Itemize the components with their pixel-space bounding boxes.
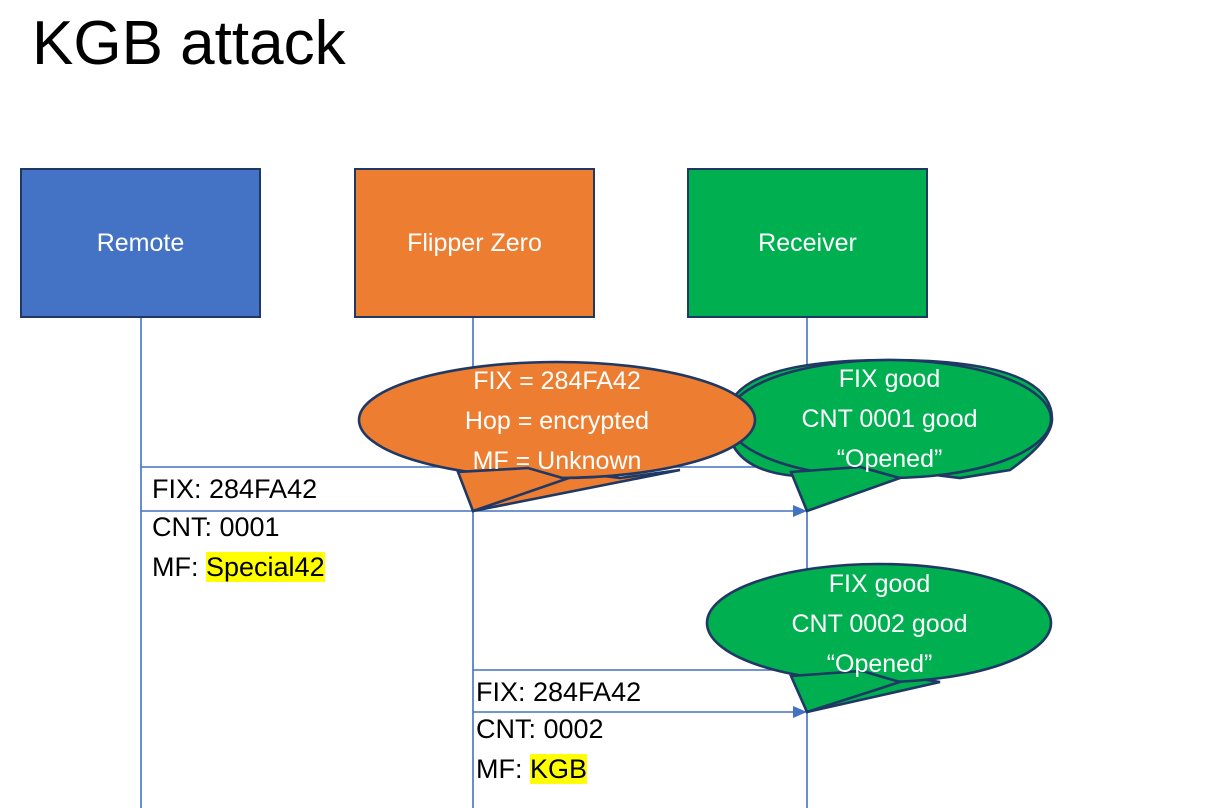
callout-flipper-line-2: Hop = encrypted bbox=[465, 401, 649, 441]
actor-box-remote[interactable]: Remote bbox=[20, 168, 261, 318]
callout-flipper-line-1: FIX = 284FA42 bbox=[473, 361, 640, 401]
page-title: KGB attack bbox=[32, 8, 346, 79]
actor-label-flipper: Flipper Zero bbox=[407, 229, 542, 258]
callout-receiver-first-line-2: CNT 0001 good bbox=[801, 399, 977, 439]
message-1-cnt-label: CNT: 0001 bbox=[152, 508, 280, 546]
actor-label-receiver: Receiver bbox=[758, 229, 857, 258]
callout-receiver-second-line-1: FIX good bbox=[829, 564, 930, 604]
callout-receiver-first-line-1: FIX good bbox=[839, 359, 940, 399]
callout-flipper-line-3: MF = Unknown bbox=[473, 441, 642, 481]
callout-receiver-second-line-3: “Opened” bbox=[827, 644, 933, 684]
actor-label-remote: Remote bbox=[97, 229, 185, 258]
callout-flipper-capture-text: FIX = 284FA42 Hop = encrypted MF = Unkno… bbox=[359, 362, 755, 479]
message-1-mf-value: Special42 bbox=[206, 552, 325, 582]
actor-box-flipper[interactable]: Flipper Zero bbox=[354, 168, 595, 318]
callout-receiver-first-line-3: “Opened” bbox=[837, 439, 943, 479]
callout-receiver-second-line-2: CNT 0002 good bbox=[791, 604, 967, 644]
message-2-cnt-label: CNT: 0002 bbox=[476, 710, 604, 748]
callout-receiver-first-text: FIX good CNT 0001 good “Opened” bbox=[727, 360, 1052, 478]
callout-receiver-second-text: FIX good CNT 0002 good “Opened” bbox=[707, 565, 1052, 683]
message-1-mf-label: MF: Special42 bbox=[152, 548, 325, 586]
message-2-mf-value: KGB bbox=[530, 754, 587, 784]
message-2-fix-label: FIX: 284FA42 bbox=[476, 673, 641, 711]
actor-box-receiver[interactable]: Receiver bbox=[687, 168, 928, 318]
message-1-mf-prefix: MF: bbox=[152, 552, 206, 582]
message-2-mf-prefix: MF: bbox=[476, 754, 530, 784]
slide-canvas: KGB attack Remote Flipper Zero Receiver … bbox=[0, 0, 1218, 808]
message-2-mf-label: MF: KGB bbox=[476, 750, 587, 788]
message-1-fix-label: FIX: 284FA42 bbox=[152, 470, 317, 508]
